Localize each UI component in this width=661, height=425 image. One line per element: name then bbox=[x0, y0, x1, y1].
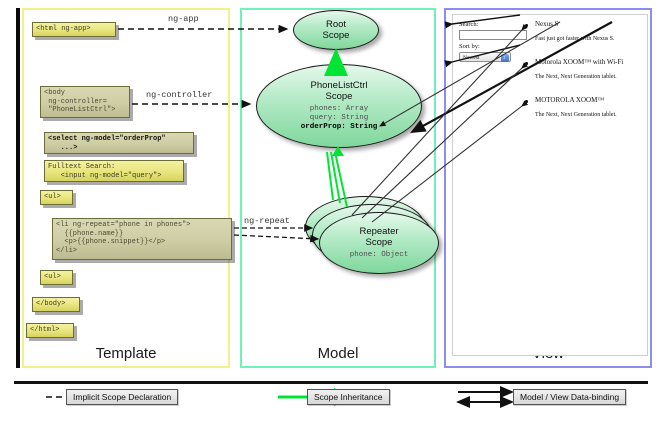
phone-name[interactable]: MOTOROLA XOOM™ bbox=[535, 96, 604, 104]
panel-template: Template bbox=[22, 8, 230, 368]
scope-repeater: Repeater Scope phone: Object bbox=[319, 212, 439, 274]
list-bullet-icon bbox=[525, 24, 528, 27]
scope-phonelistctrl: PhoneListCtrl Scope phones: Array query:… bbox=[256, 64, 422, 148]
code-box-body-close: </body> bbox=[32, 297, 80, 312]
legend-item-implicit-scope-declaration: Implicit Scope Declaration bbox=[66, 389, 178, 405]
scope-root-title-line2: Scope bbox=[323, 30, 350, 41]
code-box-html-close: </html> bbox=[26, 323, 74, 338]
scope-repeater-props: phone: Object bbox=[350, 251, 409, 260]
connector-label-ng-repeat: ng-repeat bbox=[244, 216, 290, 226]
connector-label-ng-app: ng-app bbox=[168, 14, 199, 24]
code-box-ul-open: <ul> bbox=[40, 190, 73, 205]
phone-snippet: The Next, Next Generation tablet. bbox=[535, 74, 617, 80]
phone-name[interactable]: Nexus S bbox=[535, 20, 559, 28]
scope-root-title-line1: Root bbox=[326, 19, 346, 30]
view-sort-label: Sort by: bbox=[459, 43, 480, 50]
left-vertical-rule bbox=[16, 8, 20, 368]
code-box-li-ng-repeat: <li ng-repeat="phone in phones"> {{phone… bbox=[52, 218, 232, 260]
code-box-body: <body ng-controller= "PhoneListCtrl"> bbox=[40, 86, 130, 118]
chevron-updown-icon bbox=[501, 54, 509, 62]
code-box-select: <select ng-model="orderProp" ...> bbox=[44, 132, 194, 154]
scope-repeater-title-line2: Scope bbox=[366, 237, 393, 248]
code-box-ul-close: <ul> bbox=[40, 270, 73, 285]
scope-prop-phones: phones: Array bbox=[301, 105, 378, 114]
panel-label-template: Template bbox=[24, 345, 228, 362]
phone-name[interactable]: Motorola XOOM™ with Wi-Fi bbox=[535, 58, 623, 66]
scope-phonelistctrl-props: phones: Array query: String orderProp: S… bbox=[301, 105, 378, 132]
phone-snippet: The Next, Next Generation tablet. bbox=[535, 112, 617, 118]
scope-prop-orderprop: orderProp: String bbox=[301, 123, 378, 132]
panel-model: Model bbox=[240, 8, 436, 368]
scope-prop-phone: phone: Object bbox=[350, 251, 409, 260]
code-box-fulltext-search: Fulltext Search: <input ng-model="query"… bbox=[44, 160, 184, 182]
view-sort-select-value: Newest bbox=[463, 55, 480, 61]
view-search-label: Search: bbox=[459, 21, 479, 28]
connector-label-ng-controller: ng-controller bbox=[146, 90, 212, 100]
scope-repeater-title-line1: Repeater bbox=[359, 226, 398, 237]
scope-phonelistctrl-title-line2: Scope bbox=[326, 91, 353, 102]
list-bullet-icon bbox=[525, 100, 528, 103]
panel-label-model: Model bbox=[242, 345, 434, 362]
list-bullet-icon bbox=[525, 62, 528, 65]
view-browser-mock: Search: Sort by: Newest Nexus S Fast jus… bbox=[452, 14, 648, 356]
view-sort-select[interactable]: Newest bbox=[459, 52, 511, 62]
scope-root: Root Scope bbox=[293, 10, 379, 50]
diagram-canvas: Template Model View <html ng-app> <body … bbox=[0, 0, 661, 425]
code-box-html: <html ng-app> bbox=[32, 22, 116, 37]
scope-prop-query: query: String bbox=[301, 114, 378, 123]
legend-item-scope-inheritance: Scope Inheritance bbox=[307, 389, 390, 405]
view-search-input[interactable] bbox=[459, 30, 527, 40]
scope-phonelistctrl-title-line1: PhoneListCtrl bbox=[310, 80, 367, 91]
legend-item-model-view-data-binding: Model / View Data-binding bbox=[513, 389, 626, 405]
phone-snippet: Fast just got faster with Nexus S. bbox=[535, 36, 615, 42]
legend-divider bbox=[14, 381, 648, 384]
